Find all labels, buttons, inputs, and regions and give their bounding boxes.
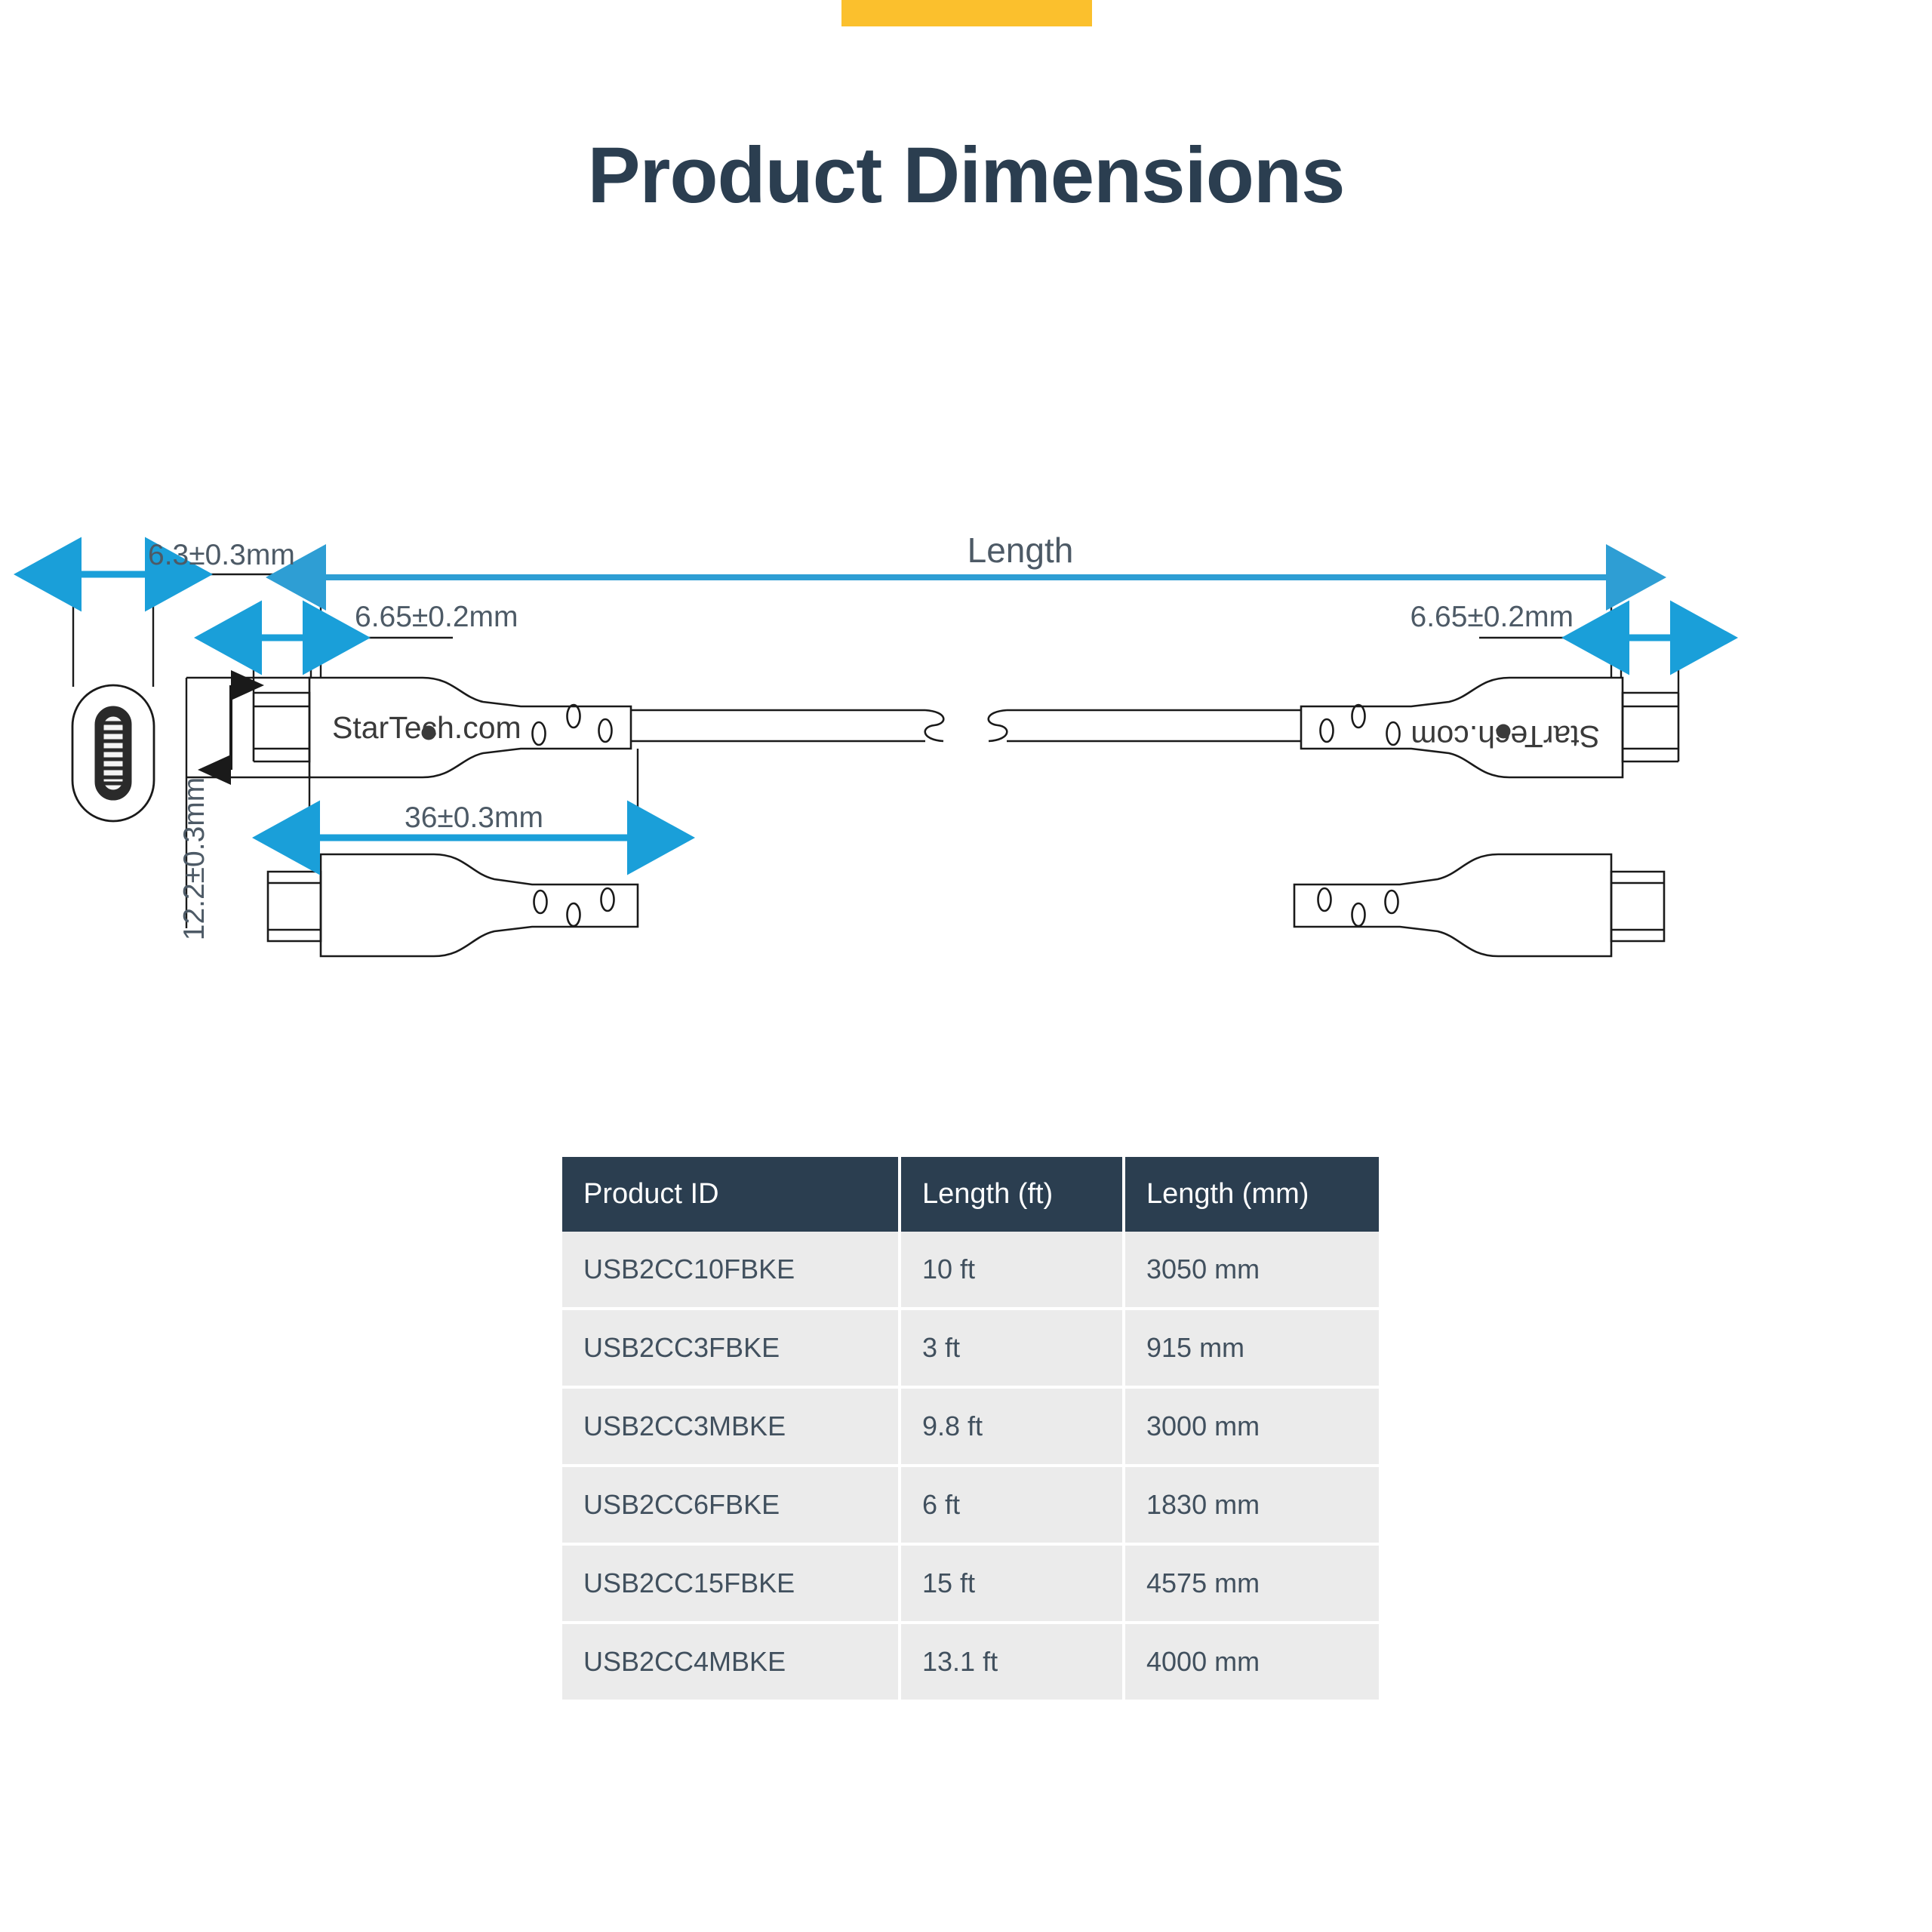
cell-product-id: USB2CC3FBKE [562, 1309, 900, 1387]
cell-length-ft: 6 ft [900, 1466, 1124, 1544]
column-header-product-id: Product ID [562, 1157, 900, 1232]
table-row: USB2CC6FBKE 6 ft 1830 mm [562, 1466, 1379, 1544]
dim-label-connector-width-right: 6.65±0.2mm [1411, 601, 1574, 633]
left-connector-bottom-view [268, 854, 638, 956]
cell-product-id: USB2CC15FBKE [562, 1544, 900, 1623]
column-header-length-mm: Length (mm) [1124, 1157, 1379, 1232]
table-row: USB2CC3FBKE 3 ft 915 mm [562, 1309, 1379, 1387]
dim-label-cable-length: Length [968, 531, 1074, 570]
cell-length-ft: 9.8 ft [900, 1387, 1124, 1466]
dim-label-thickness: 6.3±0.3mm [148, 539, 295, 571]
column-header-length-ft: Length (ft) [900, 1157, 1124, 1232]
cell-length-ft: 15 ft [900, 1544, 1124, 1623]
cell-length-mm: 915 mm [1124, 1309, 1379, 1387]
table-header-row: Product ID Length (ft) Length (mm) [562, 1157, 1379, 1232]
brand-logo-dot-left [422, 726, 436, 740]
cell-product-id: USB2CC4MBKE [562, 1623, 900, 1700]
cell-length-ft: 3 ft [900, 1309, 1124, 1387]
cell-product-id: USB2CC3MBKE [562, 1387, 900, 1466]
brand-logo-right: StarTech.com [1411, 719, 1600, 754]
cell-length-mm: 3000 mm [1124, 1387, 1379, 1466]
table-row: USB2CC4MBKE 13.1 ft 4000 mm [562, 1623, 1379, 1700]
cell-length-mm: 1830 mm [1124, 1466, 1379, 1544]
cell-product-id: USB2CC10FBKE [562, 1232, 900, 1309]
technical-drawing: 6.3±0.3mm 6.65±0.2mm 6.65±0.2mm 12.2±0.3… [0, 483, 1932, 1087]
brand-logo-dot-right [1497, 724, 1511, 739]
product-length-table: Product ID Length (ft) Length (mm) USB2C… [562, 1157, 1379, 1700]
usb-c-end-view [72, 685, 154, 821]
page-title: Product Dimensions [0, 136, 1932, 215]
brand-logo-left: StarTech.com [332, 710, 521, 745]
dim-label-connector-length: 36±0.3mm [405, 801, 543, 834]
table-row: USB2CC10FBKE 10 ft 3050 mm [562, 1232, 1379, 1309]
right-connector-bottom-view [1294, 854, 1664, 956]
cell-product-id: USB2CC6FBKE [562, 1466, 900, 1544]
cell-length-mm: 4575 mm [1124, 1544, 1379, 1623]
cell-length-ft: 10 ft [900, 1232, 1124, 1309]
table-row: USB2CC3MBKE 9.8 ft 3000 mm [562, 1387, 1379, 1466]
table-row: USB2CC15FBKE 15 ft 4575 mm [562, 1544, 1379, 1623]
yellow-accent-bar [841, 0, 1092, 26]
cell-length-mm: 4000 mm [1124, 1623, 1379, 1700]
cell-length-mm: 3050 mm [1124, 1232, 1379, 1309]
dim-label-connector-width-left: 6.65±0.2mm [355, 601, 518, 633]
dim-label-connector-height: 12.2±0.3mm [178, 777, 211, 941]
product-dimensions-page: Product Dimensions [0, 0, 1932, 1932]
cell-length-ft: 13.1 ft [900, 1623, 1124, 1700]
